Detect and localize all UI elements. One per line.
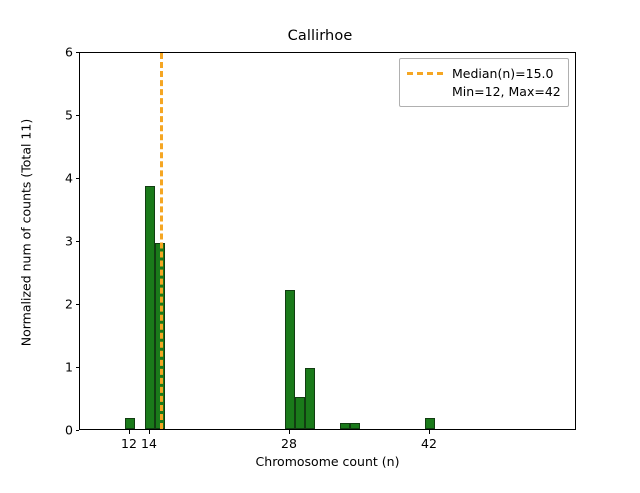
legend-label-median: Median(n)=15.0: [452, 66, 553, 81]
x-tick-label: 42: [421, 436, 437, 451]
y-tick-label: 2: [37, 297, 73, 312]
y-axis-label: Normalized num of counts (Total 11): [19, 0, 34, 493]
y-tick-label: 0: [37, 423, 73, 438]
legend: Median(n)=15.0 Min=12, Max=42: [399, 58, 569, 107]
legend-label-minmax: Min=12, Max=42: [452, 84, 561, 99]
x-tick-mark: [429, 430, 430, 434]
y-tick-mark: [76, 430, 80, 431]
legend-entry-minmax: Min=12, Max=42: [407, 82, 561, 100]
y-tick-label: 6: [37, 45, 73, 60]
y-tick-mark: [76, 178, 80, 179]
y-tick-label: 4: [37, 171, 73, 186]
x-axis-label: Chromosome count (n): [79, 454, 576, 469]
x-tick-label: 12: [121, 436, 137, 451]
dashed-line-icon: [407, 72, 443, 75]
y-tick-label: 1: [37, 360, 73, 375]
y-tick-mark: [76, 52, 80, 53]
y-tick-label: 5: [37, 108, 73, 123]
legend-entry-median: Median(n)=15.0: [407, 64, 561, 82]
x-tick-mark: [129, 430, 130, 434]
y-tick-label: 3: [37, 234, 73, 249]
y-tick-mark: [76, 241, 80, 242]
chart-figure: Callirhoe 0123456 12142842 Normalized nu…: [0, 0, 640, 480]
y-tick-mark: [76, 367, 80, 368]
x-tick-mark: [289, 430, 290, 434]
x-tick-label: 28: [281, 436, 297, 451]
x-tick-label: 14: [141, 436, 157, 451]
y-tick-mark: [76, 304, 80, 305]
x-tick-mark: [149, 430, 150, 434]
y-tick-mark: [76, 115, 80, 116]
